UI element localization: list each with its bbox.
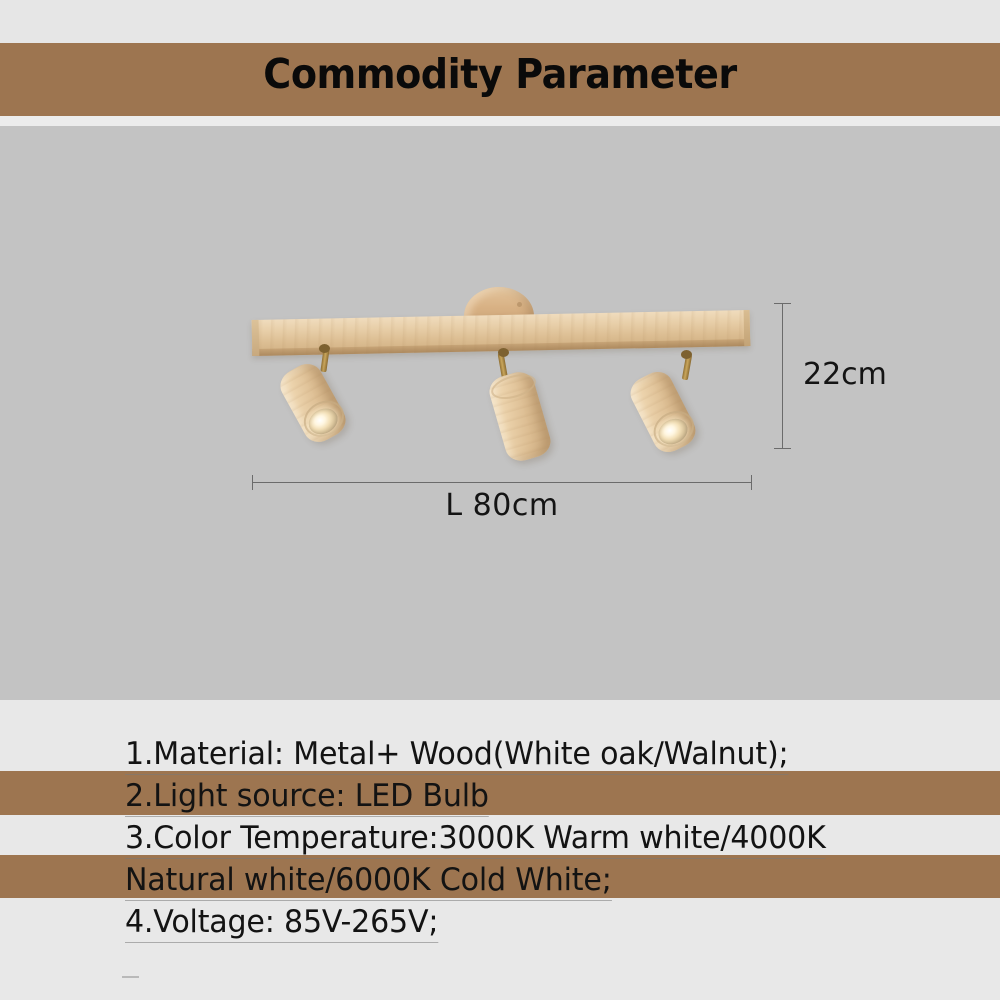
product-image-panel: L 80cm 22cm <box>0 126 1000 700</box>
height-dimension-label: 22cm <box>803 357 887 392</box>
bar-left-end <box>252 320 260 356</box>
top-spacer <box>0 0 1000 43</box>
spotlight-right-head <box>625 366 701 457</box>
canopy-screw <box>517 302 522 307</box>
height-tick-bottom <box>774 448 791 449</box>
spotlight-middle-joint <box>498 348 509 357</box>
height-dimension-line <box>782 303 783 449</box>
spec-line-color-temperature: 3.Color Temperature:3000K Warm white/400… <box>125 820 826 859</box>
specification-list: 1.Material: Metal+ Wood(White oak/Walnut… <box>0 700 1000 1000</box>
spotlight-left-head <box>275 358 351 448</box>
spec-line-light-source: 2.Light source: LED Bulb <box>125 778 489 817</box>
length-dimension-line <box>252 482 752 483</box>
spec-line-material: 1.Material: Metal+ Wood(White oak/Walnut… <box>125 736 788 775</box>
spotlight-middle-head <box>486 368 554 464</box>
trailing-dash-artifact <box>122 976 139 978</box>
spotlight-left-joint <box>319 344 330 353</box>
spec-line-color-temperature-cont: Natural white/6000K Cold White; <box>125 862 612 901</box>
spec-line-voltage: 4.Voltage: 85V-265V; <box>125 904 438 943</box>
bar-right-end <box>744 310 751 346</box>
length-dimension-label: L 80cm <box>252 488 752 523</box>
height-tick-top <box>774 303 791 304</box>
product-parameter-page: Commodity Parameter <box>0 0 1000 1000</box>
title-underline-strip <box>0 116 1000 126</box>
spotlight-right-joint <box>681 350 692 359</box>
page-title: Commodity Parameter <box>35 50 965 98</box>
